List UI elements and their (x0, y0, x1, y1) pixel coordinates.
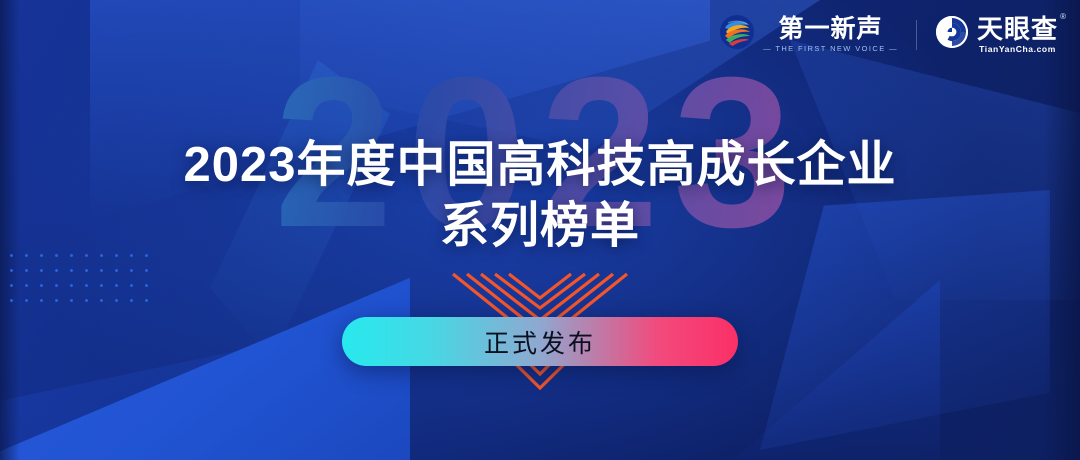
logo-tianyancha-domain: TianYanCha.com (979, 45, 1056, 54)
logo-tianyancha[interactable]: 天眼查 ® TianYanCha.com (935, 15, 1058, 54)
swirl-globe-icon (719, 14, 755, 55)
background-facet-right-3 (710, 280, 940, 460)
registered-trademark-icon: ® (1060, 13, 1067, 21)
logo-diyixinsheng-text: 第一新声 — THE FIRST NEW VOICE — (763, 17, 898, 53)
logo-tianyancha-name: 天眼查 ® (977, 16, 1058, 42)
logo-diyixinsheng-name: 第一新声 (779, 17, 883, 42)
logo-divider (916, 20, 917, 50)
promo-banner: 2023 (0, 0, 1080, 460)
page-title-line-2: 系列榜单 (0, 196, 1080, 257)
release-cta-label: 正式发布 (484, 324, 596, 360)
logo-tianyancha-text: 天眼查 ® TianYanCha.com (977, 16, 1058, 54)
logo-bar: 第一新声 — THE FIRST NEW VOICE — (719, 14, 1058, 55)
release-cta-button[interactable]: 正式发布 (342, 317, 738, 366)
logo-diyixinsheng-tagline: — THE FIRST NEW VOICE — (763, 45, 898, 53)
logo-diyixinsheng[interactable]: 第一新声 — THE FIRST NEW VOICE — (719, 14, 898, 55)
page-title: 2023年度中国高科技高成长企业 系列榜单 (0, 135, 1080, 257)
page-title-line-1: 2023年度中国高科技高成长企业 (183, 138, 896, 192)
logo-tianyancha-name-text: 天眼查 (977, 14, 1058, 44)
aperture-eye-icon (935, 15, 969, 54)
